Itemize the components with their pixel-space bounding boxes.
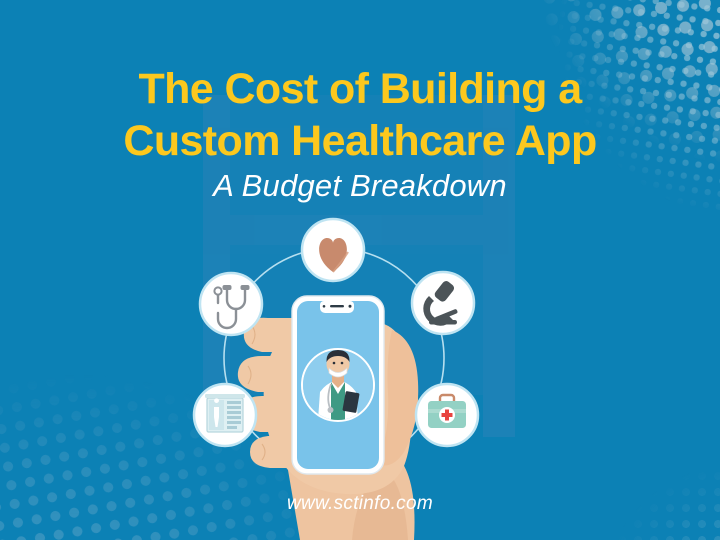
halftone-pattern-bottom-right	[550, 420, 720, 540]
doctor-avatar	[300, 348, 378, 424]
page-title-line1: The Cost of Building a	[138, 65, 581, 113]
page-subtitle: A Budget Breakdown	[0, 168, 720, 204]
poster-canvas: The Cost of Building a Custom Healthcare…	[0, 0, 720, 540]
first-aid-kit-icon	[416, 384, 478, 446]
smartphone-body	[292, 296, 384, 474]
heart-icon	[302, 219, 364, 281]
microscope-icon	[412, 272, 474, 334]
website-url: www.sctinfo.com	[0, 493, 720, 515]
page-title-line2: Custom Healthcare App	[0, 115, 720, 167]
connector-ring	[224, 248, 444, 468]
stethoscope-icon	[200, 273, 262, 335]
smartphone-screen	[297, 301, 379, 469]
medical-chart-icon	[194, 384, 256, 446]
page-title: The Cost of Building a Custom Healthcare…	[0, 63, 720, 168]
